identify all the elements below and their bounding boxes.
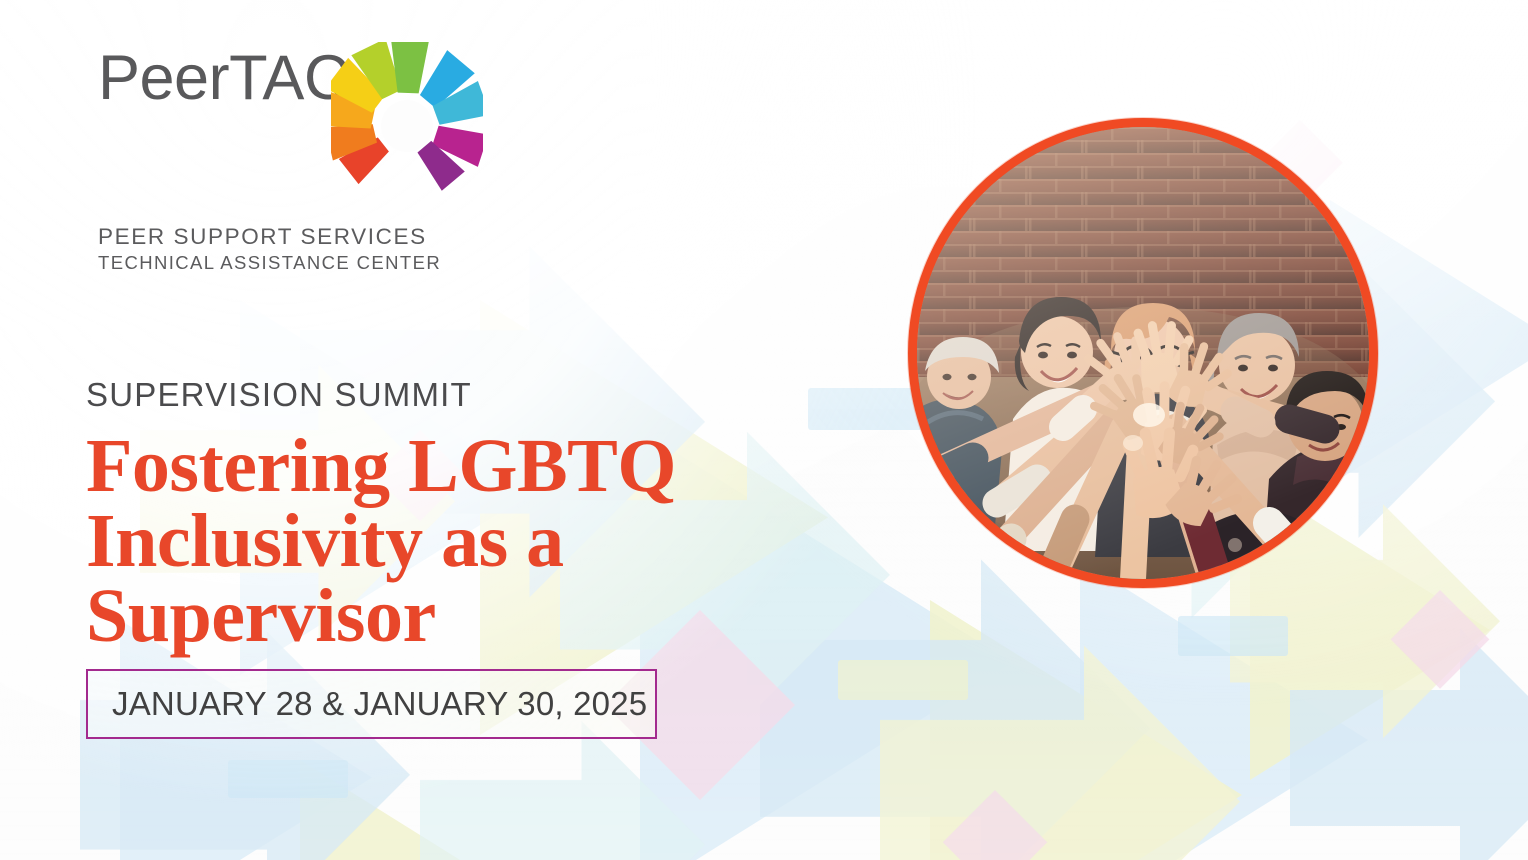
page-title: Fostering LGBTQ Inclusivity as a Supervi… (86, 429, 786, 655)
logo-subtitle-secondary: TECHNICAL ASSISTANCE CENTER (98, 252, 483, 274)
headline-block: SUPERVISION SUMMIT Fostering LGBTQ Inclu… (86, 378, 786, 655)
slide-canvas: PeerTAC (0, 0, 1528, 860)
date-badge: JANUARY 28 & JANUARY 30, 2025 (86, 669, 657, 739)
date-badge-text: JANUARY 28 & JANUARY 30, 2025 (112, 685, 647, 723)
logo-wordmark: PeerTAC (98, 48, 349, 110)
radial-people-burst-icon (331, 42, 483, 215)
logo-row: PeerTAC (98, 48, 483, 215)
peertac-logo: PeerTAC (98, 48, 483, 274)
title-line-3: Supervisor (86, 579, 786, 654)
group-high-five-photo (908, 118, 1378, 588)
title-line-1: Fostering LGBTQ (86, 429, 786, 504)
eyebrow-text: SUPERVISION SUMMIT (86, 378, 786, 411)
title-line-2: Inclusivity as a (86, 504, 786, 579)
logo-subtitle-primary: PEER SUPPORT SERVICES (98, 224, 483, 250)
